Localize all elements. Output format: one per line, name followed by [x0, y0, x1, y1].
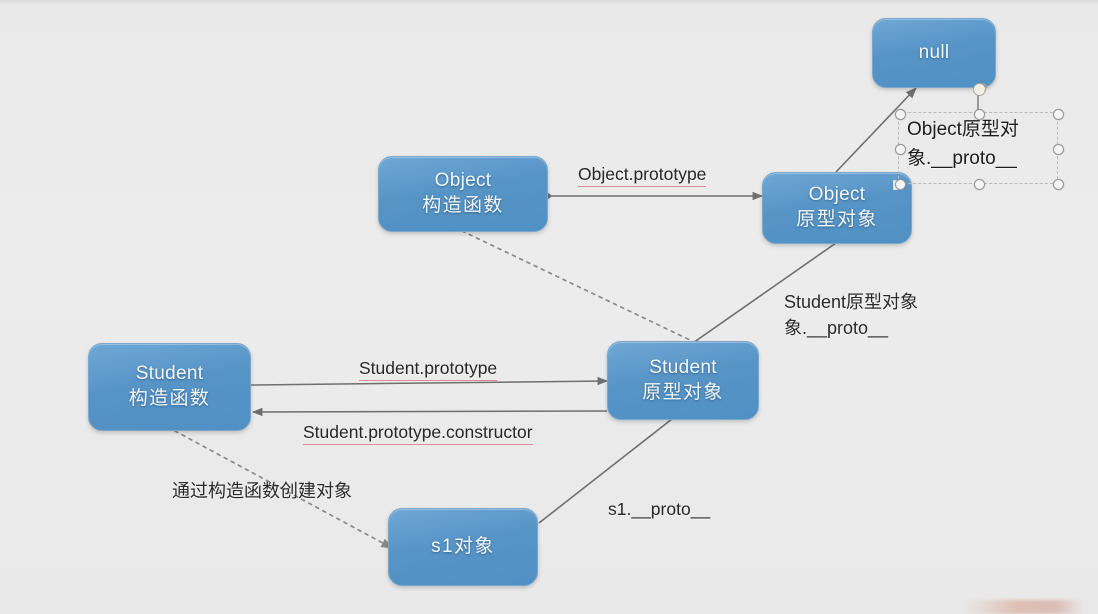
- node-student-prototype-line2: 原型对象: [642, 381, 724, 406]
- rotation-handle[interactable]: [973, 83, 986, 96]
- node-object-prototype-line1: Object: [809, 183, 866, 208]
- connector-objectctor-to-studentproto-dashed: [462, 231, 690, 340]
- label-student-prototype-constructor: Student.prototype.constructor: [303, 422, 533, 445]
- node-object-prototype[interactable]: Object 原型对象: [762, 172, 912, 244]
- selected-textbox[interactable]: Object原型对 象.__proto__: [898, 112, 1058, 184]
- resize-handle-n[interactable]: [974, 109, 985, 120]
- node-s1-object[interactable]: s1对象: [388, 508, 538, 586]
- connector-layer: [0, 0, 1098, 614]
- node-student-constructor-line2: 构造函数: [129, 387, 211, 412]
- connector-studentproto-to-studentctor: [253, 411, 607, 412]
- node-student-prototype[interactable]: Student 原型对象: [607, 341, 759, 420]
- resize-handle-ne[interactable]: [1053, 109, 1064, 120]
- diagram-canvas: null Object 构造函数 Object 原型对象 Student 构造函…: [0, 0, 1098, 614]
- connector-studentctor-to-studentproto: [251, 381, 607, 385]
- node-object-constructor[interactable]: Object 构造函数: [378, 156, 548, 232]
- node-student-constructor-line1: Student: [136, 362, 204, 387]
- resize-handle-w[interactable]: [895, 144, 906, 155]
- node-object-prototype-line2: 原型对象: [796, 208, 878, 233]
- resize-handle-s[interactable]: [974, 179, 985, 190]
- resize-handle-sw[interactable]: [895, 179, 906, 190]
- resize-handle-e[interactable]: [1053, 144, 1064, 155]
- label-object-prototype: Object.prototype: [578, 164, 706, 187]
- label-student-proto-chain: Student原型对象 象.__proto__: [784, 289, 918, 341]
- watermark: [964, 600, 1084, 614]
- label-s1-proto: s1.__proto__: [608, 499, 710, 520]
- node-object-constructor-line1: Object: [435, 169, 492, 194]
- resize-handle-se[interactable]: [1053, 179, 1064, 190]
- resize-handle-nw[interactable]: [895, 109, 906, 120]
- label-create-object-via-constructor: 通过构造函数创建对象: [172, 478, 352, 504]
- node-object-constructor-line2: 构造函数: [422, 194, 504, 219]
- node-student-constructor[interactable]: Student 构造函数: [88, 343, 251, 431]
- node-s1-object-label: s1对象: [431, 535, 495, 560]
- label-student-prototype: Student.prototype: [359, 358, 497, 381]
- selected-textbox-text[interactable]: Object原型对 象.__proto__: [907, 115, 1057, 174]
- node-null[interactable]: null: [872, 18, 996, 88]
- node-null-label: null: [919, 41, 950, 66]
- node-student-prototype-line1: Student: [649, 356, 717, 381]
